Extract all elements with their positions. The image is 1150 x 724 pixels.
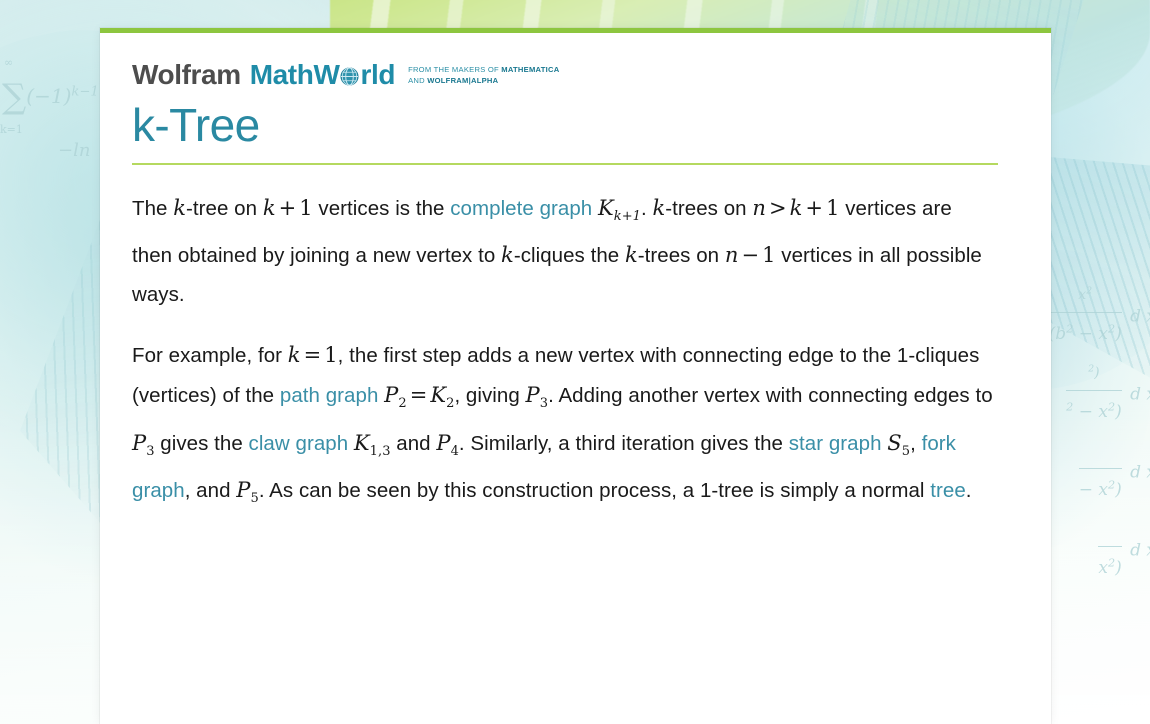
math-P: P bbox=[132, 431, 146, 455]
logo-mathworld-text: MathWrld bbox=[250, 61, 395, 89]
math-plus: + bbox=[276, 196, 300, 220]
math-k: k bbox=[653, 196, 666, 220]
background-fraction: x2) bbox=[1098, 512, 1121, 590]
differential-dx: d x bbox=[1125, 384, 1150, 404]
link-star-graph[interactable]: star graph bbox=[789, 432, 882, 455]
math-minus: − bbox=[738, 243, 762, 267]
math-k: k bbox=[501, 243, 514, 267]
math-K-subscript: k+1 bbox=[614, 209, 641, 224]
summation-sigma: ∑ bbox=[2, 77, 26, 117]
math-S5: S5 bbox=[887, 431, 910, 455]
link-tree[interactable]: tree bbox=[930, 479, 966, 502]
differential-dx: d x bbox=[1125, 462, 1150, 482]
math-plus: + bbox=[802, 196, 826, 220]
math-n: n bbox=[725, 243, 739, 267]
math-k-plus-1: k+1 bbox=[263, 196, 313, 220]
fraction-denominator: x2) bbox=[1098, 546, 1121, 590]
background-formula-exponent: k−1 bbox=[71, 84, 98, 99]
math-greater-than: > bbox=[766, 196, 790, 220]
math-n: n bbox=[752, 196, 766, 220]
background-formula-row: 2) 2 − x2) d x bbox=[1046, 356, 1150, 434]
background-formula-row: x2) d x bbox=[1046, 512, 1150, 590]
text-fragment: . bbox=[641, 197, 653, 220]
text-fragment: , and bbox=[185, 479, 237, 502]
background-formula-body: (−1) bbox=[26, 84, 71, 108]
fraction-denominator: − x2) bbox=[1079, 468, 1122, 512]
math-k-inline: k bbox=[790, 196, 803, 220]
background-fraction: − x2) bbox=[1079, 434, 1122, 512]
fraction-numerator bbox=[1079, 434, 1122, 468]
card-header-area: Wolfram MathWrld From the makers of Math… bbox=[100, 33, 1051, 165]
math-P: P bbox=[384, 383, 398, 407]
math-K: K bbox=[430, 383, 446, 407]
text-fragment: For example, for bbox=[132, 344, 288, 367]
paragraph-definition: The k-tree on k+1 vertices is the comple… bbox=[132, 189, 997, 315]
math-k: k bbox=[173, 196, 186, 220]
page-title: k-Tree bbox=[132, 101, 997, 151]
math-equals: = bbox=[301, 343, 325, 367]
text-fragment: gives the bbox=[155, 432, 249, 455]
math-k: k bbox=[625, 243, 638, 267]
text-fragment: -trees on bbox=[665, 197, 752, 220]
text-fragment: , giving bbox=[454, 384, 525, 407]
text-fragment: . bbox=[966, 479, 972, 502]
math-k-inline: k bbox=[288, 343, 301, 367]
text-fragment: , bbox=[910, 432, 922, 455]
math-K-k-plus-1: Kk+1 bbox=[598, 196, 641, 220]
tagline-line2-plain: and bbox=[408, 76, 427, 85]
link-complete-graph[interactable]: complete graph bbox=[450, 197, 592, 220]
math-P: P bbox=[436, 431, 450, 455]
text-fragment: . As can be seen by this construction pr… bbox=[259, 479, 930, 502]
summation-upper-limit: ∞ bbox=[4, 55, 13, 72]
background-formula-row: − x2) d x bbox=[1046, 434, 1150, 512]
math-S: S bbox=[887, 431, 901, 455]
link-claw-graph[interactable]: claw graph bbox=[249, 432, 349, 455]
article-body: The k-tree on k+1 vertices is the comple… bbox=[100, 189, 1051, 519]
fraction-numerator: x2 bbox=[1049, 278, 1122, 312]
math-K: K bbox=[598, 196, 614, 220]
math-P-subscript: 3 bbox=[146, 444, 154, 459]
logo-wolfram-text: Wolfram bbox=[132, 61, 241, 89]
fraction-numerator bbox=[1098, 512, 1121, 546]
background-fraction: x2 (b2 − x2) bbox=[1049, 278, 1122, 356]
text-fragment: . Similarly, a third iteration gives the bbox=[459, 432, 789, 455]
tagline-line1: From the makers of Mathematica bbox=[408, 65, 559, 74]
text-fragment: -trees on bbox=[638, 244, 725, 267]
differential-dx: d x bbox=[1125, 540, 1150, 560]
logo-world-suffix: rld bbox=[360, 61, 395, 89]
math-P4: P4 bbox=[436, 431, 459, 455]
text-fragment: vertices is the bbox=[313, 197, 451, 220]
math-P2-equals-K2: P2=K2 bbox=[384, 383, 454, 407]
math-P-subscript: 4 bbox=[451, 444, 459, 459]
text-fragment: The bbox=[132, 197, 173, 220]
title-divider bbox=[132, 163, 998, 165]
math-equals: = bbox=[407, 383, 431, 407]
math-P: P bbox=[526, 383, 540, 407]
text-fragment: and bbox=[391, 432, 437, 455]
text-fragment: -cliques the bbox=[514, 244, 625, 267]
tagline-mathematica: Mathematica bbox=[501, 65, 559, 74]
background-formula-left: ∞ ∑ k=1 (−1)k−1 −ln bbox=[2, 72, 99, 164]
site-logo[interactable]: Wolfram MathWrld From the makers of Math… bbox=[132, 55, 997, 89]
math-k-inline: k bbox=[263, 196, 276, 220]
math-P3: P3 bbox=[526, 383, 549, 407]
background-fraction: 2) 2 − x2) bbox=[1066, 356, 1122, 434]
math-P-subscript: 3 bbox=[540, 396, 548, 411]
summation-lower-limit: k=1 bbox=[0, 122, 23, 139]
globe-icon bbox=[340, 63, 359, 82]
tagline-wolfram-alpha: Wolfram|Alpha bbox=[427, 76, 498, 85]
differential-dx: d x bbox=[1125, 306, 1150, 326]
text-fragment: -tree on bbox=[186, 197, 263, 220]
fraction-numerator: 2) bbox=[1066, 356, 1122, 390]
link-path-graph[interactable]: path graph bbox=[280, 384, 379, 407]
background-formula-left-line2: −ln bbox=[58, 137, 99, 164]
text-fragment: . Adding another vertex with connecting … bbox=[548, 384, 993, 407]
math-P: P bbox=[236, 478, 250, 502]
math-K13: K1,3 bbox=[354, 431, 391, 455]
math-P-subscript: 2 bbox=[398, 396, 406, 411]
background-formula-row: x2 (b2 − x2) d x bbox=[1046, 278, 1150, 356]
math-k-equals-1: k=1 bbox=[288, 343, 338, 367]
tagline-line2: and Wolfram|Alpha bbox=[408, 76, 498, 85]
math-S-subscript: 5 bbox=[902, 444, 910, 459]
math-K: K bbox=[354, 431, 370, 455]
math-K-subscript: 1,3 bbox=[370, 444, 391, 459]
content-card: Wolfram MathWrld From the makers of Math… bbox=[100, 28, 1051, 724]
math-n-gt-k-plus-1: n>k+1 bbox=[752, 196, 839, 220]
math-P-subscript: 5 bbox=[250, 491, 258, 506]
fraction-denominator: 2 − x2) bbox=[1066, 390, 1122, 434]
logo-world-prefix: W bbox=[313, 61, 339, 89]
logo-math-text: Math bbox=[250, 61, 314, 89]
background-summation-symbol: ∞ ∑ k=1 bbox=[2, 72, 26, 123]
math-P5: P5 bbox=[236, 478, 259, 502]
tagline-line1-plain: From the makers of bbox=[408, 65, 501, 74]
math-n-minus-1: n−1 bbox=[725, 243, 776, 267]
math-P3: P3 bbox=[132, 431, 155, 455]
logo-tagline: From the makers of Mathematica and Wolfr… bbox=[408, 61, 559, 87]
fraction-denominator: (b2 − x2) bbox=[1049, 312, 1122, 356]
paragraph-example: For example, for k=1, the first step add… bbox=[132, 336, 997, 519]
background-formula-right: x2 (b2 − x2) d x 2) 2 − x2) d x − x2) d … bbox=[1046, 278, 1150, 590]
